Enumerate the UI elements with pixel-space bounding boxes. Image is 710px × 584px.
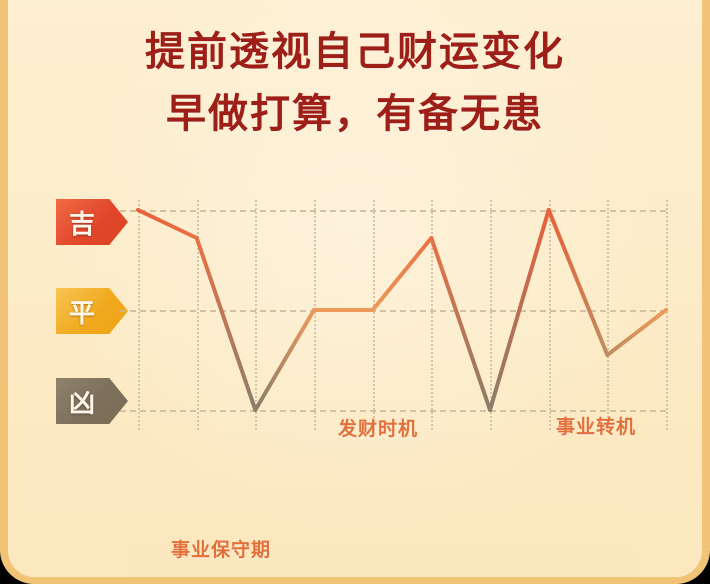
chart-line-segment <box>431 238 490 410</box>
poster-card: 提前透视自己财运变化 早做打算，有备无患 吉 平 凶 事业保守期 发财时机 破财… <box>0 0 710 584</box>
chart-line-segment <box>197 238 256 410</box>
title-line-1: 提前透视自己财运变化 <box>8 26 702 78</box>
chart-line-segment <box>138 210 197 238</box>
chart-line-segment <box>607 310 666 355</box>
chart-line-segment <box>255 310 314 410</box>
chart-line-segment <box>490 210 549 410</box>
gridline-vertical <box>666 200 668 430</box>
annotation-career-conservative: 事业保守期 <box>171 535 271 562</box>
annotation-career-turning: 事业转机 <box>556 412 636 439</box>
chart-line-segment <box>373 238 432 310</box>
title-line-2: 早做打算，有备无患 <box>8 88 702 140</box>
page-title: 提前透视自己财运变化 早做打算，有备无患 <box>8 26 702 140</box>
annotation-wealth-timing: 发财时机 <box>338 414 418 441</box>
chart-plot-area <box>138 200 666 430</box>
chart-line-segment <box>549 210 608 355</box>
chart-line-series <box>138 200 666 430</box>
fortune-line-chart: 事业保守期 发财时机 破财危机 事业转机 正月2月3月4月5月6月7月8月9月… <box>8 190 710 490</box>
